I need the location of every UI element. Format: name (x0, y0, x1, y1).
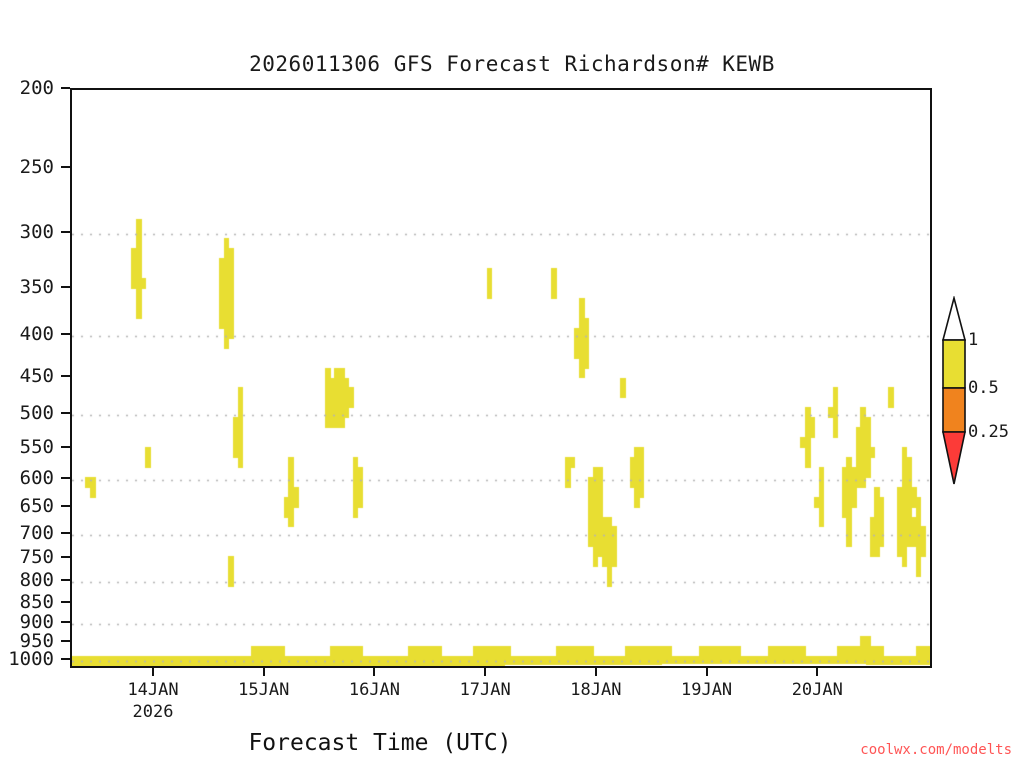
y-tick-mark (61, 333, 70, 335)
y-axis-pressure: 2002503003504004505005506006507007508008… (0, 88, 70, 668)
y-tick-mark (61, 412, 70, 414)
y-tick-label: 800 (20, 569, 54, 591)
colorbar-legend: 10.50.25 (938, 296, 1024, 486)
x-tick-mark (816, 668, 818, 676)
x-tick-label: 20JAN (792, 680, 843, 700)
y-tick-mark (61, 640, 70, 642)
x-tick-mark (595, 668, 597, 676)
gridline-overlay-canvas (72, 90, 930, 666)
x-tick-label: 17JAN (460, 680, 511, 700)
x-tick-mark (263, 668, 265, 676)
page-title: 2026011306 GFS Forecast Richardson# KEWB (0, 52, 1024, 76)
y-tick-mark (61, 231, 70, 233)
y-tick-mark (61, 579, 70, 581)
heatmap-plot-area (70, 88, 932, 668)
x-tick-mark (484, 668, 486, 676)
colorbar-tick-label: 0.5 (968, 378, 999, 398)
y-tick-label: 250 (20, 156, 54, 178)
y-tick-mark (61, 166, 70, 168)
y-tick-label: 550 (20, 436, 54, 458)
y-tick-label: 850 (20, 591, 54, 613)
y-tick-mark (61, 505, 70, 507)
y-tick-mark (61, 477, 70, 479)
y-tick-mark (61, 556, 70, 558)
y-tick-mark (61, 375, 70, 377)
x-tick-label: 19JAN (681, 680, 732, 700)
y-tick-label: 600 (20, 467, 54, 489)
y-tick-label: 450 (20, 365, 54, 387)
y-tick-mark (61, 87, 70, 89)
x-tick-label: 14JAN (127, 680, 178, 700)
x-tick-mark (706, 668, 708, 676)
y-tick-label: 300 (20, 221, 54, 243)
y-tick-label: 1000 (8, 648, 54, 670)
y-tick-mark (61, 446, 70, 448)
x-tick-mark (373, 668, 375, 676)
y-tick-label: 650 (20, 495, 54, 517)
colorbar-tick-label: 1 (968, 330, 978, 350)
y-tick-label: 500 (20, 402, 54, 424)
y-tick-label: 350 (20, 276, 54, 298)
y-tick-mark (61, 621, 70, 623)
y-tick-mark (61, 286, 70, 288)
y-tick-mark (61, 601, 70, 603)
x-tick-label: 16JAN (349, 680, 400, 700)
colorbar-tick-label: 0.25 (968, 422, 1009, 442)
x-axis-title: Forecast Time (UTC) (70, 730, 690, 756)
y-tick-label: 200 (20, 77, 54, 99)
y-tick-label: 750 (20, 546, 54, 568)
y-tick-label: 400 (20, 323, 54, 345)
x-tick-label: 18JAN (570, 680, 621, 700)
x-tick-mark (152, 668, 154, 676)
x-tick-label: 15JAN (238, 680, 289, 700)
y-tick-label: 700 (20, 522, 54, 544)
x-axis-forecast-time: 14JAN202615JAN16JAN17JAN18JAN19JAN20JAN (70, 668, 932, 728)
y-tick-mark (61, 658, 70, 660)
x-tick-year-label: 2026 (133, 702, 174, 722)
y-tick-mark (61, 532, 70, 534)
watermark-credit: coolwx.com/modelts (860, 742, 1012, 758)
